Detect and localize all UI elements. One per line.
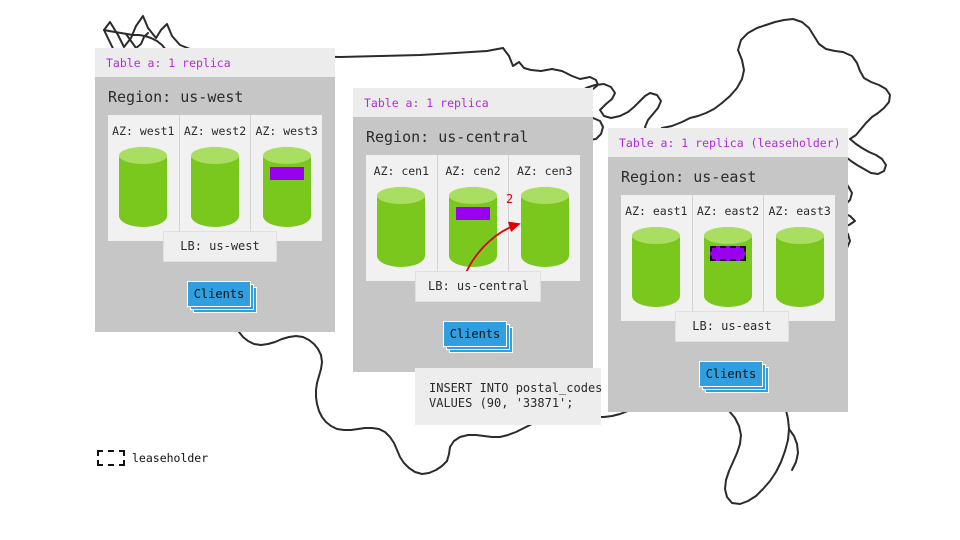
az-container-us-west: AZ: west1 AZ: west2 AZ: west3 xyxy=(108,115,322,241)
az-container-us-central: AZ: cen1 AZ: cen2 AZ: cen3 xyxy=(366,155,580,281)
az-label: AZ: west3 xyxy=(256,124,318,138)
region-banner-us-west: Table a: 1 replica xyxy=(95,48,335,77)
az-label: AZ: east1 xyxy=(625,204,687,218)
cylinder-top xyxy=(449,187,497,204)
clients-button-us-east[interactable]: Clients xyxy=(699,361,761,385)
az-cen3[interactable]: AZ: cen3 xyxy=(509,155,580,281)
load-balancer-us-east[interactable]: LB: us-east xyxy=(675,311,789,342)
cylinder-top xyxy=(632,227,680,244)
node-cylinder[interactable] xyxy=(263,147,311,227)
node-cylinder[interactable] xyxy=(449,187,497,267)
az-east2[interactable]: AZ: east2 xyxy=(693,195,765,321)
cylinder-top xyxy=(704,227,752,244)
az-west2[interactable]: AZ: west2 xyxy=(180,115,252,241)
az-east3[interactable]: AZ: east3 xyxy=(764,195,835,321)
leaseholder-swatch-icon xyxy=(97,450,125,466)
node-cylinder[interactable] xyxy=(776,227,824,307)
az-label: AZ: east3 xyxy=(769,204,831,218)
legend-label: leaseholder xyxy=(132,451,208,465)
arrow-label-2: 2 xyxy=(506,192,513,206)
az-cen1[interactable]: AZ: cen1 xyxy=(366,155,438,281)
clients-button-us-central[interactable]: Clients xyxy=(443,321,505,345)
clients-label: Clients xyxy=(187,281,251,307)
clients-label: Clients xyxy=(699,361,763,387)
az-west3[interactable]: AZ: west3 xyxy=(251,115,322,241)
az-label: AZ: west1 xyxy=(112,124,174,138)
cylinder-top xyxy=(191,147,239,164)
az-label: AZ: cen1 xyxy=(374,164,429,178)
cylinder-top xyxy=(521,187,569,204)
cylinder-top xyxy=(377,187,425,204)
load-balancer-us-west[interactable]: LB: us-west xyxy=(163,231,277,262)
node-cylinder[interactable] xyxy=(704,227,752,307)
clients-label: Clients xyxy=(443,321,507,347)
load-balancer-us-central[interactable]: LB: us-central xyxy=(415,271,541,302)
az-container-us-east: AZ: east1 AZ: east2 AZ: east3 xyxy=(621,195,835,321)
leaseholder-replica-marker xyxy=(710,246,746,261)
cylinder-top xyxy=(263,147,311,164)
region-banner-us-central: Table a: 1 replica xyxy=(353,88,593,117)
node-cylinder[interactable] xyxy=(632,227,680,307)
az-label: AZ: east2 xyxy=(697,204,759,218)
sql-statement-box: INSERT INTO postal_codes VALUES (90, '33… xyxy=(415,368,601,425)
region-title-us-west: Region: us-west xyxy=(95,77,335,115)
legend: leaseholder xyxy=(97,450,208,466)
node-cylinder[interactable] xyxy=(191,147,239,227)
replica-marker xyxy=(456,207,490,220)
az-label: AZ: cen2 xyxy=(445,164,500,178)
region-title-us-east: Region: us-east xyxy=(608,157,848,195)
region-banner-us-east: Table a: 1 replica (leaseholder) xyxy=(608,128,848,157)
clients-button-us-west[interactable]: Clients xyxy=(187,281,249,305)
az-cen2[interactable]: AZ: cen2 xyxy=(438,155,510,281)
node-cylinder[interactable] xyxy=(377,187,425,267)
cylinder-top xyxy=(119,147,167,164)
az-east1[interactable]: AZ: east1 xyxy=(621,195,693,321)
node-cylinder[interactable] xyxy=(521,187,569,267)
cylinder-top xyxy=(776,227,824,244)
az-label: AZ: cen3 xyxy=(517,164,572,178)
az-west1[interactable]: AZ: west1 xyxy=(108,115,180,241)
az-label: AZ: west2 xyxy=(184,124,246,138)
diagram-canvas: Table a: 1 replica Region: us-west AZ: w… xyxy=(0,0,960,540)
replica-marker xyxy=(270,167,304,180)
node-cylinder[interactable] xyxy=(119,147,167,227)
region-title-us-central: Region: us-central xyxy=(353,117,593,155)
